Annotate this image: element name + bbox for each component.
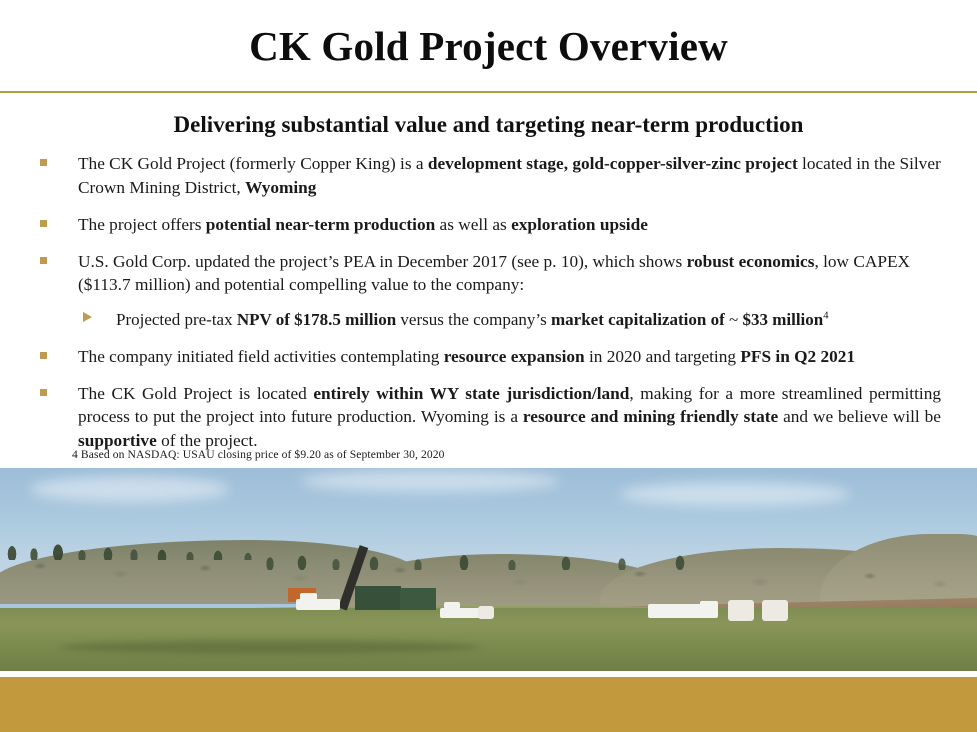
water-truck-tank: [648, 604, 706, 618]
bullet-item: The project offers potential near-term p…: [36, 213, 941, 237]
bullet-text-segment: resource expansion: [444, 347, 585, 366]
square-bullet-icon: [40, 257, 47, 264]
bullet-item: The company initiated field activities c…: [36, 345, 941, 369]
storage-tank: [478, 606, 494, 619]
bullet-text-segment: robust economics: [687, 252, 815, 271]
bullet-text-segment: entirely within WY state jurisdiction/la…: [313, 384, 629, 403]
square-bullet-icon: [40, 220, 47, 227]
bullet-text-segment: ~: [725, 310, 743, 329]
drill-rig-base: [355, 586, 401, 610]
bullet-text-segment: exploration upside: [511, 215, 648, 234]
pickup-truck-cab: [444, 602, 460, 609]
bullet-text-segment: and we believe will be: [778, 407, 941, 426]
field-shadow: [60, 640, 480, 654]
footnote: 4 Based on NASDAQ: USAU closing price of…: [72, 448, 445, 461]
pickup-truck-cab: [300, 593, 317, 601]
square-bullet-icon: [40, 159, 47, 166]
bullet-text-segment: Projected pre-tax: [116, 310, 237, 329]
cloud: [300, 470, 560, 492]
cloud: [620, 482, 850, 506]
water-truck-cab: [700, 601, 718, 618]
bullet-text-segment: PFS in Q2 2021: [740, 347, 855, 366]
cloud: [30, 476, 230, 502]
bullet-text-segment: The project offers: [78, 215, 206, 234]
bullet-text-segment: The CK Gold Project is located: [78, 384, 313, 403]
bullet-text-segment: NPV of $178.5 million: [237, 310, 396, 329]
bullet-text-segment: The company initiated field activities c…: [78, 347, 444, 366]
bullet-text-segment: as well as: [435, 215, 511, 234]
bullet-text-segment: U.S. Gold Corp. updated the project’s PE…: [78, 252, 687, 271]
bullet-text-segment: development stage, gold-copper-silver-zi…: [428, 154, 798, 173]
bullet-item: U.S. Gold Corp. updated the project’s PE…: [36, 250, 941, 298]
bullet-list: The CK Gold Project (formerly Copper Kin…: [36, 152, 941, 466]
square-bullet-icon: [40, 352, 47, 359]
storage-tank: [762, 600, 788, 621]
bullet-text-segment: 4: [823, 311, 828, 322]
title-divider: [0, 91, 977, 93]
site-photograph: [0, 468, 977, 671]
slide-subtitle: Delivering substantial value and targeti…: [0, 112, 977, 138]
bullet-text-segment: versus the company’s: [396, 310, 551, 329]
arrow-bullet-icon: [83, 312, 92, 322]
storage-tank: [728, 600, 754, 621]
bullet-item: The CK Gold Project (formerly Copper Kin…: [36, 152, 941, 200]
bullet-text-segment: Wyoming: [245, 178, 316, 197]
bullet-text-segment: resource and mining friendly state: [523, 407, 778, 426]
square-bullet-icon: [40, 389, 47, 396]
green-equipment: [400, 588, 436, 610]
slide-ck-gold-project-overview: CK Gold Project Overview Delivering subs…: [0, 0, 977, 732]
footer-bar: U.S. GOLD CORP Nasdaq: USAU | usgoldcorp…: [0, 677, 977, 732]
bullet-text-segment: market capitalization of: [551, 310, 725, 329]
bullet-text-segment: in 2020 and targeting: [585, 347, 741, 366]
sub-bullet-item: Projected pre-tax NPV of $178.5 million …: [36, 308, 941, 331]
bullet-text-segment: The CK Gold Project (formerly Copper Kin…: [78, 154, 428, 173]
bullet-text-segment: $33 million: [742, 310, 823, 329]
page-title: CK Gold Project Overview: [0, 22, 977, 70]
bullet-text-segment: potential near-term production: [206, 215, 435, 234]
bullet-item: The CK Gold Project is located entirely …: [36, 382, 941, 454]
